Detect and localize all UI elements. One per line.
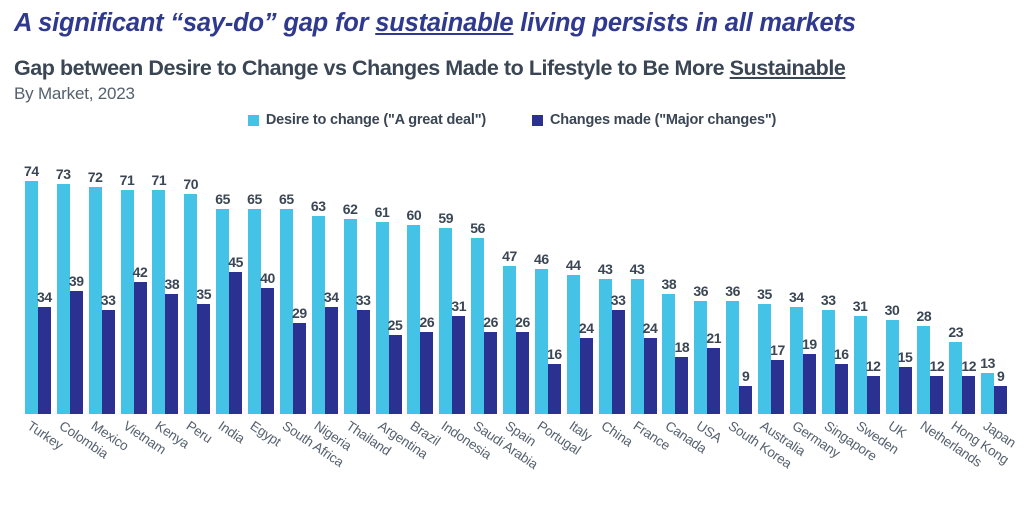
bar-value-label: 47 xyxy=(502,248,517,264)
x-axis-tick-label: Peru xyxy=(181,414,213,508)
legend-label-desire: Desire to change ("A great deal") xyxy=(266,112,486,128)
title-underlined-word: sustainable xyxy=(375,9,513,37)
bar-group: 3112 xyxy=(851,136,883,414)
bar-group: 4324 xyxy=(628,136,660,414)
bar-value-label: 16 xyxy=(834,346,849,362)
bar-desire[interactable]: 59 xyxy=(439,228,452,414)
bar-changes[interactable]: 45 xyxy=(229,272,242,414)
bar-value-label: 18 xyxy=(674,339,689,355)
x-axis-tick-label: Argentina xyxy=(373,414,405,508)
bar-value-label: 70 xyxy=(183,176,198,192)
bar-group: 6125 xyxy=(373,136,405,414)
x-axis-tick-label: Canada xyxy=(660,414,692,508)
bar-value-label: 65 xyxy=(279,191,294,207)
x-axis-tick-label: India xyxy=(213,414,245,508)
legend-label-changes: Changes made ("Major changes") xyxy=(550,112,776,128)
bar-value-label: 38 xyxy=(661,276,676,292)
bar-value-label: 34 xyxy=(789,289,804,305)
bar-group: 7035 xyxy=(181,136,213,414)
bar-group: 3818 xyxy=(660,136,692,414)
bar-group: 139 xyxy=(978,136,1010,414)
x-axis-tick-label: Netherlands xyxy=(915,414,947,508)
x-axis-tick-label: South Africa xyxy=(277,414,309,508)
bar-group: 6233 xyxy=(341,136,373,414)
bar-value-label: 38 xyxy=(164,276,179,292)
bar-group: 369 xyxy=(723,136,755,414)
bar-changes[interactable]: 18 xyxy=(675,357,688,414)
bar-changes[interactable]: 29 xyxy=(293,323,306,414)
bar-changes[interactable]: 42 xyxy=(134,282,147,414)
bar-value-label: 73 xyxy=(56,166,71,182)
bar-desire[interactable]: 13 xyxy=(981,373,994,414)
chart-subtitle: Gap between Desire to Change vs Changes … xyxy=(14,56,1024,81)
x-axis-tick-text: USA xyxy=(694,418,725,446)
bar-value-label: 45 xyxy=(228,254,243,270)
x-axis-tick-label: Italy xyxy=(564,414,596,508)
bar-changes[interactable]: 24 xyxy=(580,338,593,414)
bar-value-label: 33 xyxy=(101,292,116,308)
bar-value-label: 44 xyxy=(566,257,581,273)
bar-value-label: 16 xyxy=(547,346,562,362)
bar-value-label: 31 xyxy=(451,298,466,314)
x-axis-category-labels: TurkeyColombiaMexicoVietnamKenyaPeruIndi… xyxy=(22,414,1010,508)
bar-value-label: 65 xyxy=(215,191,230,207)
chart-source-note: By Market, 2023 xyxy=(14,84,135,104)
bar-desire[interactable]: 47 xyxy=(503,266,516,414)
bar-group: 3015 xyxy=(883,136,915,414)
bar-value-label: 23 xyxy=(948,324,963,340)
bar-value-label: 42 xyxy=(133,264,148,280)
bar-desire[interactable]: 65 xyxy=(248,209,261,414)
bar-desire[interactable]: 33 xyxy=(822,310,835,414)
x-axis-tick-label: Indonesia xyxy=(436,414,468,508)
x-axis-tick-label: Singapore xyxy=(819,414,851,508)
bar-group: 4333 xyxy=(596,136,628,414)
bar-desire[interactable]: 73 xyxy=(57,184,70,414)
x-axis-tick-label: Sweden xyxy=(851,414,883,508)
bar-group: 2312 xyxy=(946,136,978,414)
bar-value-label: 13 xyxy=(980,355,995,371)
bar-group: 6540 xyxy=(245,136,277,414)
chart-legend: Desire to change ("A great deal")Changes… xyxy=(0,112,1024,128)
legend-swatch-icon-desire xyxy=(248,115,259,126)
x-axis-tick-label: UK xyxy=(883,414,915,508)
bar-value-label: 12 xyxy=(866,358,881,374)
chart-page: A significant “say-do” gap for sustainab… xyxy=(0,0,1024,508)
bar-value-label: 62 xyxy=(343,201,358,217)
bar-desire[interactable]: 30 xyxy=(886,320,899,415)
bar-value-label: 43 xyxy=(630,261,645,277)
bar-changes[interactable]: 24 xyxy=(644,338,657,414)
bar-changes[interactable]: 9 xyxy=(739,386,752,414)
bar-changes[interactable]: 12 xyxy=(867,376,880,414)
bar-group: 5931 xyxy=(436,136,468,414)
bar-value-label: 33 xyxy=(356,292,371,308)
x-axis-tick-label: Portugal xyxy=(532,414,564,508)
bar-group: 7138 xyxy=(150,136,182,414)
bar-changes[interactable]: 33 xyxy=(102,310,115,414)
bar-value-label: 63 xyxy=(311,198,326,214)
x-axis-tick-label: Nigeria xyxy=(309,414,341,508)
bar-desire[interactable]: 36 xyxy=(726,301,739,414)
x-axis-tick-label: Germany xyxy=(787,414,819,508)
bar-changes[interactable]: 12 xyxy=(930,376,943,414)
bar-group: 6529 xyxy=(277,136,309,414)
bar-value-label: 26 xyxy=(483,314,498,330)
bar-group: 7339 xyxy=(54,136,86,414)
bar-value-label: 24 xyxy=(643,320,658,336)
bar-value-label: 36 xyxy=(693,283,708,299)
bar-value-label: 26 xyxy=(419,314,434,330)
bar-value-label: 12 xyxy=(929,358,944,374)
x-axis-tick-label: Australia xyxy=(755,414,787,508)
legend-swatch-icon-changes xyxy=(532,115,543,126)
bar-group: 6545 xyxy=(213,136,245,414)
bar-value-label: 17 xyxy=(770,342,785,358)
bar-changes[interactable]: 40 xyxy=(261,288,274,414)
title-part-after: living persists in all markets xyxy=(513,9,855,37)
bar-group: 5626 xyxy=(468,136,500,414)
x-axis-tick-text: Peru xyxy=(184,418,215,446)
bar-group: 6334 xyxy=(309,136,341,414)
bar-changes[interactable]: 39 xyxy=(70,291,83,414)
page-title: A significant “say-do” gap for sustainab… xyxy=(14,9,1014,38)
bar-changes[interactable]: 33 xyxy=(357,310,370,414)
bar-value-label: 9 xyxy=(997,368,1005,384)
x-axis-tick-label: Thailand xyxy=(341,414,373,508)
title-part-before: A significant “say-do” gap for xyxy=(14,9,375,37)
bar-desire[interactable]: 46 xyxy=(535,269,548,414)
bar-value-label: 36 xyxy=(725,283,740,299)
bar-desire[interactable]: 62 xyxy=(344,219,357,414)
bar-value-label: 33 xyxy=(611,292,626,308)
bar-changes[interactable]: 15 xyxy=(899,367,912,414)
bar-value-label: 65 xyxy=(247,191,262,207)
x-axis-tick-label: China xyxy=(596,414,628,508)
bar-value-label: 59 xyxy=(438,210,453,226)
bar-group: 3621 xyxy=(691,136,723,414)
chart-plot-area: 7434733972337142713870356545654065296334… xyxy=(22,136,1010,414)
x-axis-tick-label: Hong Kong xyxy=(946,414,978,508)
bar-desire[interactable]: 63 xyxy=(312,216,325,414)
bar-group: 4616 xyxy=(532,136,564,414)
bar-changes[interactable]: 33 xyxy=(612,310,625,414)
x-axis-tick-label: USA xyxy=(691,414,723,508)
bar-value-label: 56 xyxy=(470,220,485,236)
bar-groups: 7434733972337142713870356545654065296334… xyxy=(22,136,1010,414)
bar-value-label: 35 xyxy=(757,286,772,302)
bar-value-label: 71 xyxy=(151,172,166,188)
bar-desire[interactable]: 43 xyxy=(631,279,644,414)
bar-desire[interactable]: 71 xyxy=(152,190,165,414)
subtitle-part-before: Gap between Desire to Change vs Changes … xyxy=(14,56,730,80)
bar-changes[interactable]: 17 xyxy=(771,360,784,414)
bar-value-label: 26 xyxy=(515,314,530,330)
bar-value-label: 72 xyxy=(88,169,103,185)
bar-desire[interactable]: 71 xyxy=(121,190,134,414)
bar-changes[interactable]: 21 xyxy=(707,348,720,414)
legend-item-changes[interactable]: Changes made ("Major changes") xyxy=(532,112,776,128)
x-axis-tick-label: Saudi Arabia xyxy=(468,414,500,508)
bar-changes[interactable]: 26 xyxy=(516,332,529,414)
bar-desire[interactable]: 65 xyxy=(216,209,229,414)
bar-value-label: 71 xyxy=(120,172,135,188)
x-axis-tick-text: India xyxy=(216,418,248,446)
x-axis-tick-text: Italy xyxy=(566,418,594,444)
bar-group: 4726 xyxy=(500,136,532,414)
x-axis-tick-label: Mexico xyxy=(86,414,118,508)
bar-group: 6026 xyxy=(405,136,437,414)
bar-value-label: 39 xyxy=(69,273,84,289)
x-axis-tick-label: South Korea xyxy=(723,414,755,508)
x-axis-tick-label: France xyxy=(628,414,660,508)
bar-group: 7233 xyxy=(86,136,118,414)
bar-value-label: 15 xyxy=(898,349,913,365)
x-axis-tick-text: UK xyxy=(885,418,909,441)
bar-value-label: 19 xyxy=(802,336,817,352)
bar-value-label: 33 xyxy=(821,292,836,308)
x-axis-tick-label: Brazil xyxy=(405,414,437,508)
subtitle-underlined-word: Sustainable xyxy=(730,56,846,80)
bar-changes[interactable]: 38 xyxy=(165,294,178,414)
legend-item-desire[interactable]: Desire to change ("A great deal") xyxy=(248,112,486,128)
bar-value-label: 25 xyxy=(388,317,403,333)
bar-desire[interactable]: 34 xyxy=(790,307,803,414)
bar-changes[interactable]: 35 xyxy=(197,304,210,414)
bar-changes[interactable]: 31 xyxy=(452,316,465,414)
bar-value-label: 28 xyxy=(916,308,931,324)
x-axis-tick-label: Vietnam xyxy=(118,414,150,508)
bar-desire[interactable]: 23 xyxy=(949,342,962,414)
bar-changes[interactable]: 26 xyxy=(420,332,433,414)
x-axis-tick-label: Spain xyxy=(500,414,532,508)
bar-group: 2812 xyxy=(915,136,947,414)
bar-changes[interactable]: 26 xyxy=(484,332,497,414)
bar-value-label: 34 xyxy=(324,289,339,305)
bar-changes[interactable]: 16 xyxy=(548,364,561,414)
x-axis-tick-label: Egypt xyxy=(245,414,277,508)
bar-group: 3419 xyxy=(787,136,819,414)
bar-value-label: 46 xyxy=(534,251,549,267)
bar-changes[interactable]: 19 xyxy=(803,354,816,414)
bar-changes[interactable]: 34 xyxy=(325,307,338,414)
bar-group: 7142 xyxy=(118,136,150,414)
bar-value-label: 12 xyxy=(961,358,976,374)
bar-group: 3316 xyxy=(819,136,851,414)
bar-value-label: 9 xyxy=(742,368,750,384)
x-axis-tick-text: Japan xyxy=(981,418,1019,450)
bar-value-label: 74 xyxy=(24,163,39,179)
bar-group: 7434 xyxy=(22,136,54,414)
bar-value-label: 31 xyxy=(853,298,868,314)
x-axis-tick-label: Kenya xyxy=(150,414,182,508)
bar-changes[interactable]: 9 xyxy=(994,386,1007,414)
bar-group: 3517 xyxy=(755,136,787,414)
bar-desire[interactable]: 44 xyxy=(567,275,580,414)
bar-changes[interactable]: 12 xyxy=(962,376,975,414)
bar-value-label: 24 xyxy=(579,320,594,336)
bar-value-label: 34 xyxy=(37,289,52,305)
bar-group: 4424 xyxy=(564,136,596,414)
bar-changes[interactable]: 25 xyxy=(389,335,402,414)
bar-value-label: 61 xyxy=(375,204,390,220)
bar-value-label: 35 xyxy=(196,286,211,302)
bar-value-label: 21 xyxy=(706,330,721,346)
bar-value-label: 30 xyxy=(885,302,900,318)
bar-changes[interactable]: 34 xyxy=(38,307,51,414)
bar-value-label: 43 xyxy=(598,261,613,277)
bar-desire[interactable]: 36 xyxy=(694,301,707,414)
bar-changes[interactable]: 16 xyxy=(835,364,848,414)
bar-value-label: 40 xyxy=(260,270,275,286)
x-axis-tick-label: Turkey xyxy=(22,414,54,508)
bar-value-label: 29 xyxy=(292,305,307,321)
bar-desire[interactable]: 70 xyxy=(184,194,197,415)
bar-value-label: 60 xyxy=(406,207,421,223)
bar-desire[interactable]: 35 xyxy=(758,304,771,414)
x-axis-tick-label: Colombia xyxy=(54,414,86,508)
x-axis-tick-label: Japan xyxy=(978,414,1010,508)
